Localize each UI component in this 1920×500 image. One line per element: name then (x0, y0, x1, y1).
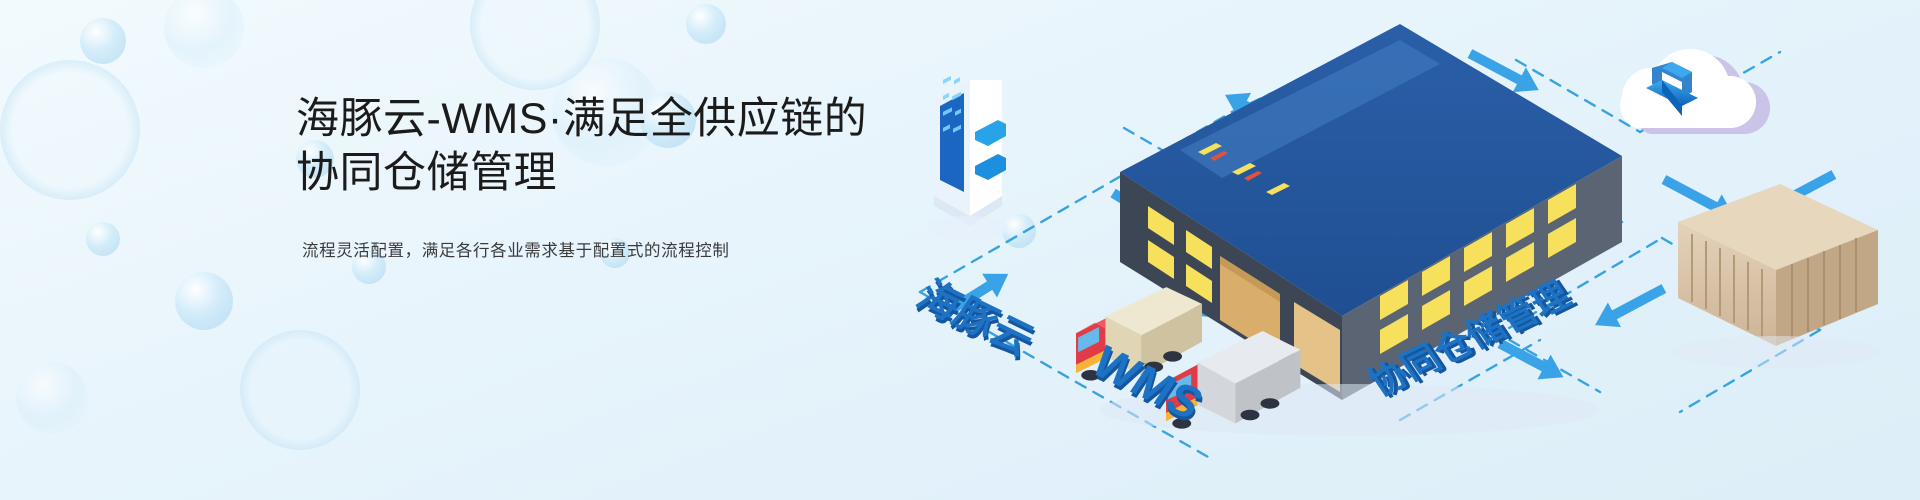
isometric-logistics-illustration: 海豚云 海豚云 WMS WMS 协同仓储管理 协同仓储管理 (880, 0, 1920, 500)
bubble-2 (686, 4, 726, 44)
bubble-0 (80, 18, 126, 64)
illustration-label-left: 海豚云 海豚云 (908, 273, 1046, 367)
bubble-7 (175, 272, 233, 330)
bubble-6 (86, 222, 120, 256)
bubble-12 (0, 60, 140, 200)
server-rack-icon (928, 76, 1008, 240)
bubble-8 (16, 362, 88, 434)
page-title: 海豚云-WMS·满足全供应链的 协同仓储管理 (296, 92, 916, 200)
bubble-13 (240, 330, 360, 450)
headline-line-2: 协同仓储管理 (296, 146, 916, 200)
headline-line-1: 海豚云-WMS·满足全供应链的 (296, 95, 867, 143)
bubble-14 (470, 0, 600, 90)
cloud-upload-icon (1620, 49, 1770, 134)
bubble-1 (164, 0, 244, 68)
hero-subtitle: 流程灵活配置，满足各行各业需求基于配置式的流程控制 (302, 238, 916, 264)
shipping-container (1672, 184, 1880, 368)
label-left-text: 海豚云 (909, 273, 1042, 363)
hero-banner: 海豚云-WMS·满足全供应链的 协同仓储管理 流程灵活配置，满足各行各业需求基于… (0, 0, 1920, 500)
hero-copy: 海豚云-WMS·满足全供应链的 协同仓储管理 流程灵活配置，满足各行各业需求基于… (296, 92, 916, 264)
